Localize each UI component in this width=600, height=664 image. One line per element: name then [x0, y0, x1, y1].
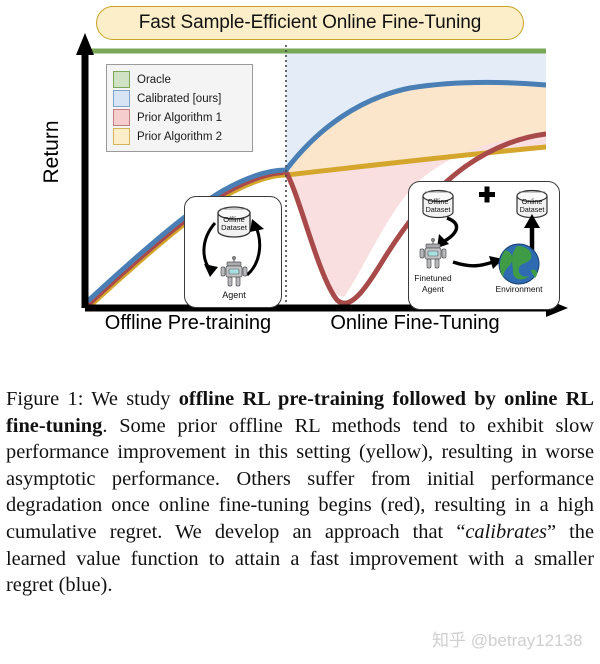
environment-globe-icon	[499, 244, 539, 284]
zhihu-watermark: 知乎 @betray12138	[432, 626, 583, 651]
figure-title-banner: Fast Sample-Efficient Online Fine-Tuning	[96, 6, 524, 40]
legend-label-prior-2: Prior Algorithm 2	[137, 131, 222, 143]
y-axis-label: Return	[40, 72, 64, 232]
legend-swatch-prior-2	[113, 128, 130, 145]
offline-dataset-label-line2: Dataset	[221, 223, 248, 232]
inset-offline-graphic: Offline Dataset	[185, 197, 283, 309]
inset-offline-pretraining: Offline Dataset	[184, 196, 282, 308]
figure-panel: Fast Sample-Efficient Online Fine-Tuning…	[0, 0, 600, 372]
legend-label-calibrated: Calibrated [ours]	[137, 93, 221, 105]
figure-caption: Figure 1: We study offline RL pre-traini…	[6, 386, 594, 599]
legend-label-oracle: Oracle	[137, 74, 171, 86]
arrow-agent-to-environment-icon	[453, 256, 503, 269]
agent-label: Agent	[222, 290, 246, 300]
agent-robot-icon	[221, 256, 247, 286]
legend-swatch-prior-1	[113, 109, 130, 126]
inset-online-finetuning: Offline Dataset Online Dataset	[408, 181, 560, 310]
caption-prefix: Figure 1: We study	[6, 388, 179, 410]
legend-item-oracle: Oracle	[113, 70, 246, 89]
x-axis-label-offline: Offline Pre-training	[90, 312, 286, 335]
legend-swatch-oracle	[113, 71, 130, 88]
online-offline-dataset-label-line2: Dataset	[426, 205, 451, 214]
figure-title-text: Fast Sample-Efficient Online Fine-Tuning	[139, 12, 481, 34]
legend-item-prior-2: Prior Algorithm 2	[113, 127, 246, 146]
caption-italic-1: calibrates	[465, 521, 547, 543]
chart-legend: Oracle Calibrated [ours] Prior Algorithm…	[106, 64, 253, 152]
environment-label: Environment	[495, 284, 543, 294]
legend-item-calibrated: Calibrated [ours]	[113, 89, 246, 108]
legend-item-prior-1: Prior Algorithm 1	[113, 108, 246, 127]
online-dataset-label-line2: Dataset	[520, 205, 545, 214]
finetuned-agent-label-line1: Finetuned	[414, 273, 452, 283]
y-axis-arrowhead	[76, 33, 94, 55]
legend-swatch-calibrated	[113, 90, 130, 107]
arrow-dataset-to-finetuned-agent-icon	[437, 218, 457, 248]
inset-online-graphic: Offline Dataset Online Dataset	[409, 182, 561, 311]
plus-icon	[479, 187, 495, 203]
arrow-dataset-to-agent-icon	[204, 223, 218, 277]
finetuned-agent-label-line2: Agent	[422, 284, 445, 294]
x-axis-label-online: Online Fine-Tuning	[290, 312, 540, 335]
legend-label-prior-1: Prior Algorithm 1	[137, 112, 222, 124]
